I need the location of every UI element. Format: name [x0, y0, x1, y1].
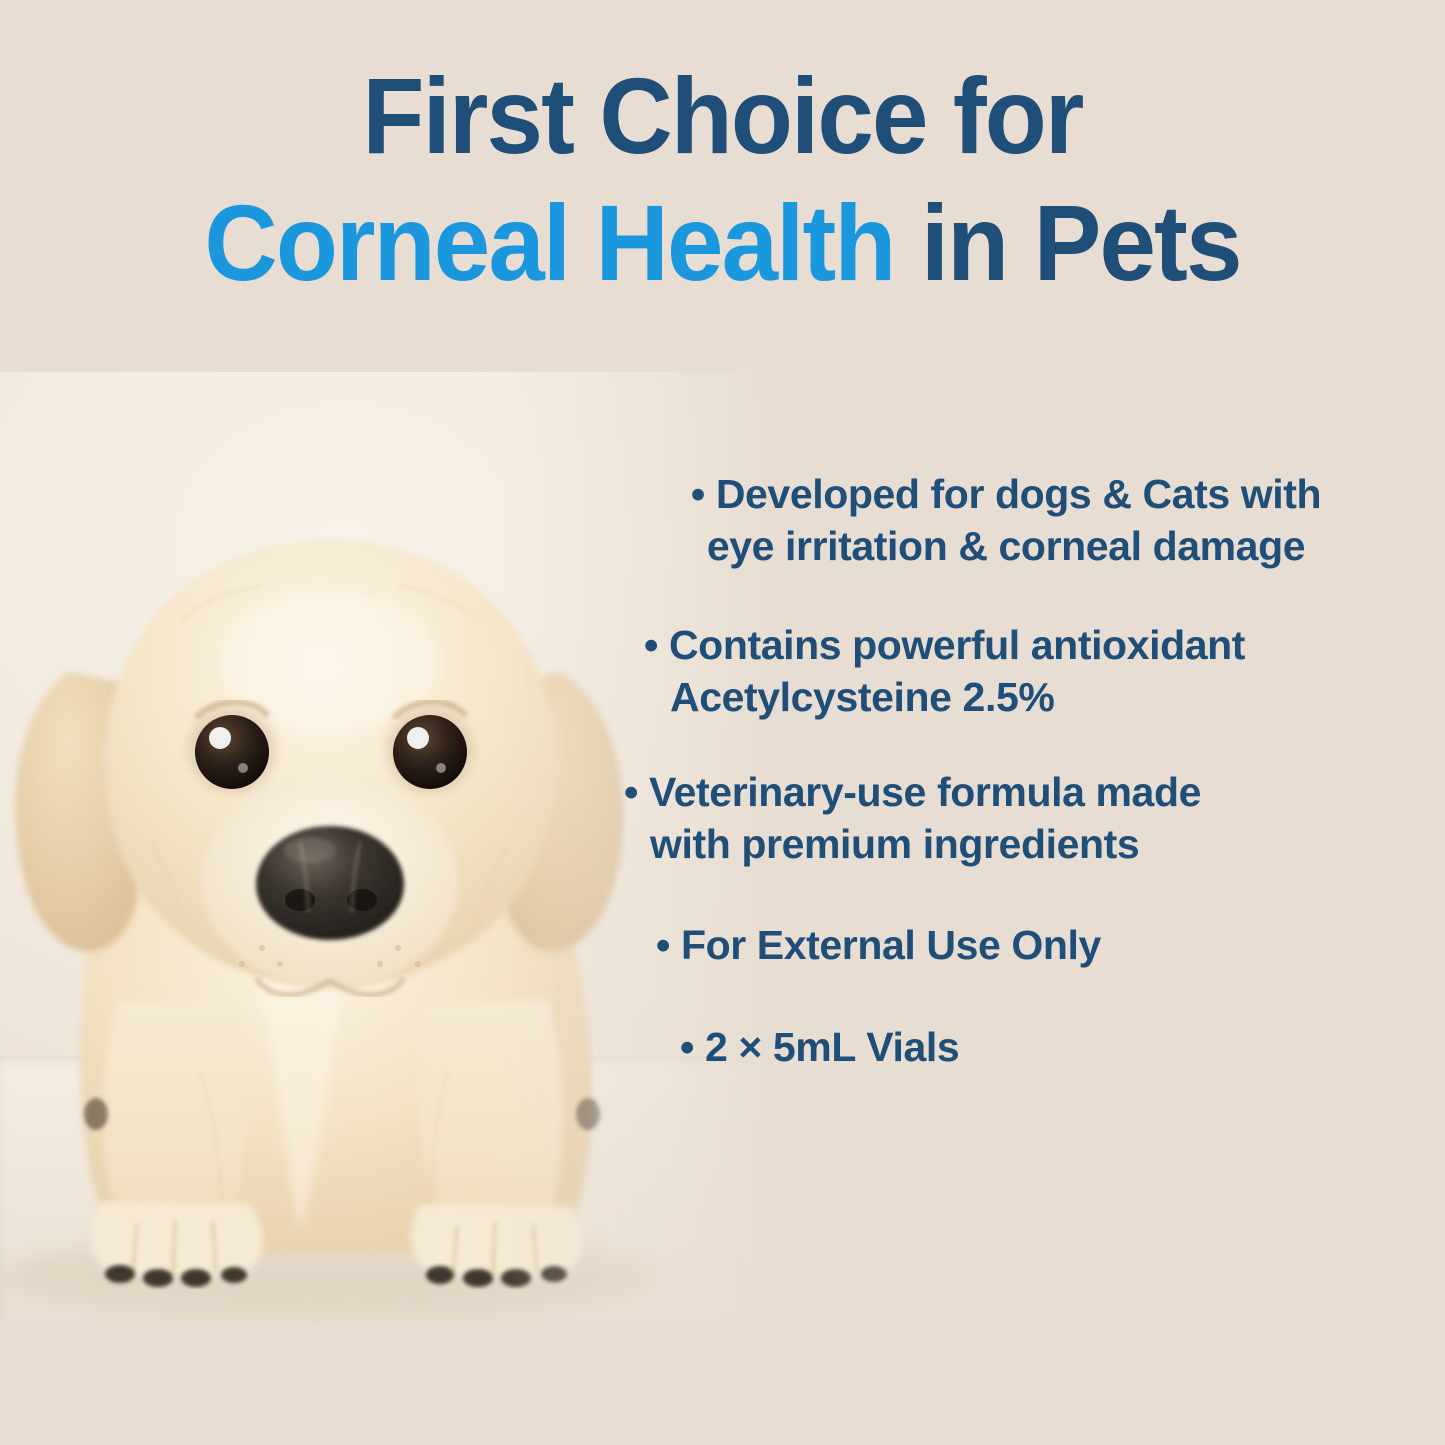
bullet-line-1: • Developed for dogs & Cats with [582, 468, 1430, 520]
headline-line-2-rest: in Pets [895, 182, 1241, 303]
bullet-text: 2 × 5mL Vials [705, 1024, 959, 1070]
feature-bullet-list: • Developed for dogs & Cats with eye irr… [560, 468, 1430, 1074]
bullet-line-1: • Veterinary-use formula made [624, 766, 1430, 818]
bullet-line-1: • 2 × 5mL Vials [680, 1021, 1430, 1073]
headline-highlight: Corneal Health [204, 182, 894, 303]
list-item: • 2 × 5mL Vials [680, 1021, 1430, 1073]
bullet-marker-icon: • [624, 766, 638, 818]
headline-line-1: First Choice for [43, 52, 1401, 179]
bullet-line-2: eye irritation & corneal damage [582, 520, 1430, 572]
bullet-marker-icon: • [644, 619, 658, 671]
list-item: • For External Use Only [656, 919, 1430, 971]
bullet-line-1: • For External Use Only [656, 919, 1430, 971]
list-item: • Veterinary-use formula made with premi… [624, 766, 1430, 871]
bullet-marker-icon: • [656, 919, 670, 971]
bullet-line-2: with premium ingredients [650, 818, 1430, 870]
bullet-text: Veterinary-use formula made [649, 769, 1201, 815]
list-item: • Developed for dogs & Cats with eye irr… [582, 468, 1430, 573]
bullet-line-1: • Contains powerful antioxidant [644, 619, 1430, 671]
page-title: First Choice for Corneal Health in Pets [43, 52, 1401, 307]
bullet-line-2: Acetylcysteine 2.5% [670, 671, 1430, 723]
list-item: • Contains powerful antioxidant Acetylcy… [644, 619, 1430, 724]
bullet-marker-icon: • [691, 468, 705, 520]
bullet-text: Contains powerful antioxidant [669, 622, 1245, 668]
bullet-marker-icon: • [680, 1021, 694, 1073]
bullet-text: Developed for dogs & Cats with [716, 471, 1321, 517]
headline-line-2: Corneal Health in Pets [43, 179, 1401, 306]
product-feature-card: First Choice for Corneal Health in Pets [0, 0, 1445, 1445]
bullet-text: For External Use Only [681, 922, 1101, 968]
